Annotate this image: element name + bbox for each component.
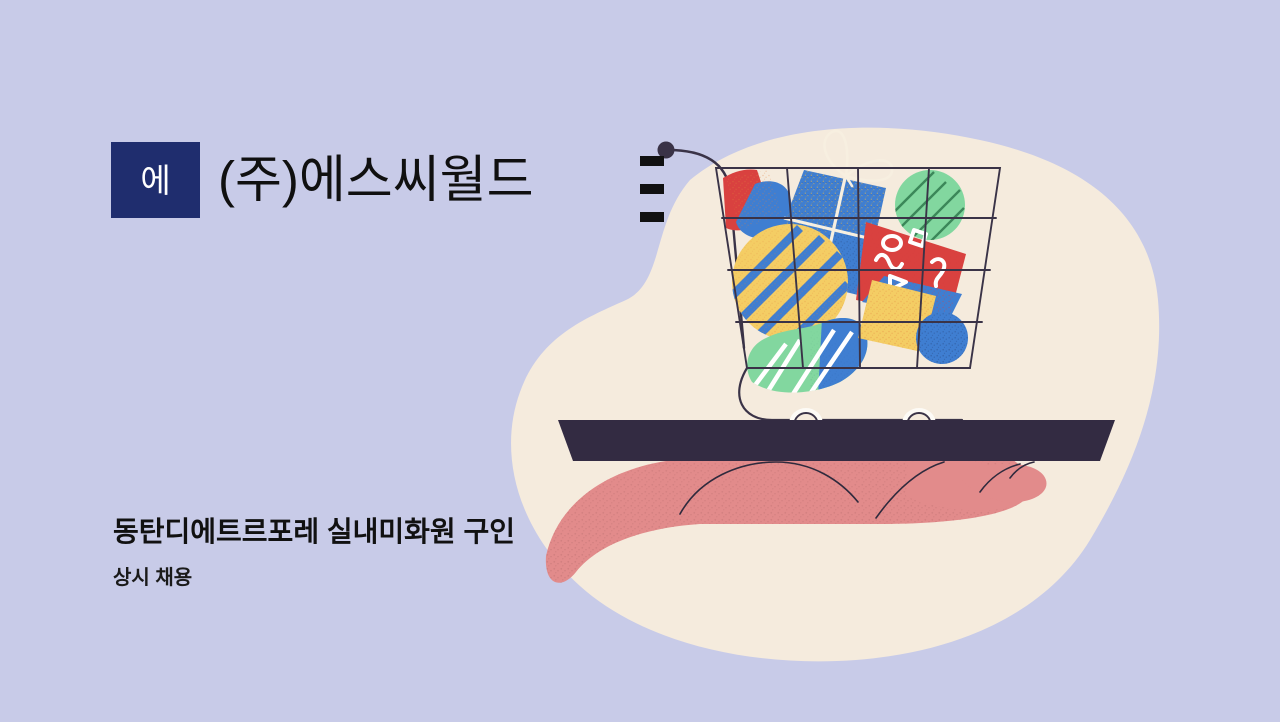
card-background: [0, 0, 1280, 722]
ball-blue: [916, 312, 968, 364]
gift-blue-large: [760, 131, 900, 304]
company-name: (주)에스씨월드: [218, 153, 534, 207]
company-logo-badge: 에: [111, 142, 200, 218]
gift-bow: [824, 131, 892, 186]
job-title: 동탄디에트르포레 실내미화원 구인: [113, 513, 515, 551]
gift-orange-square: [852, 274, 944, 358]
gift-red-doodle-tag: [850, 216, 980, 326]
shelf-bar: [558, 420, 1115, 461]
shape-green-blue-striped: [744, 314, 890, 404]
job-hiring-type: 상시 채용: [113, 565, 515, 592]
gift-red-blue-topleft: [716, 162, 796, 242]
job-posting-card: 에 (주)에스씨월드 동탄디에트르포레 실내미화원 구인 상시 채용: [0, 0, 1280, 722]
company-header: 에 (주)에스씨월드: [111, 142, 534, 218]
job-info-block: 동탄디에트르포레 실내미화원 구인 상시 채용: [113, 513, 515, 592]
hand-holding-shelf: [546, 454, 1047, 583]
cart-basket-grid-front: [716, 168, 1000, 368]
cream-blob: [511, 128, 1159, 662]
cart-wheels: [789, 408, 936, 440]
decor-dashes: [640, 156, 664, 222]
ball-yellow-striped: [726, 222, 854, 364]
cart-handle-line: [668, 150, 744, 348]
red-tag-doodles: [876, 230, 944, 290]
cart-lower-frame: [739, 368, 962, 420]
cart-handle-knob: [658, 142, 675, 159]
shopping-cart-illustration: [0, 0, 1280, 722]
ball-green-striped: [892, 170, 965, 246]
